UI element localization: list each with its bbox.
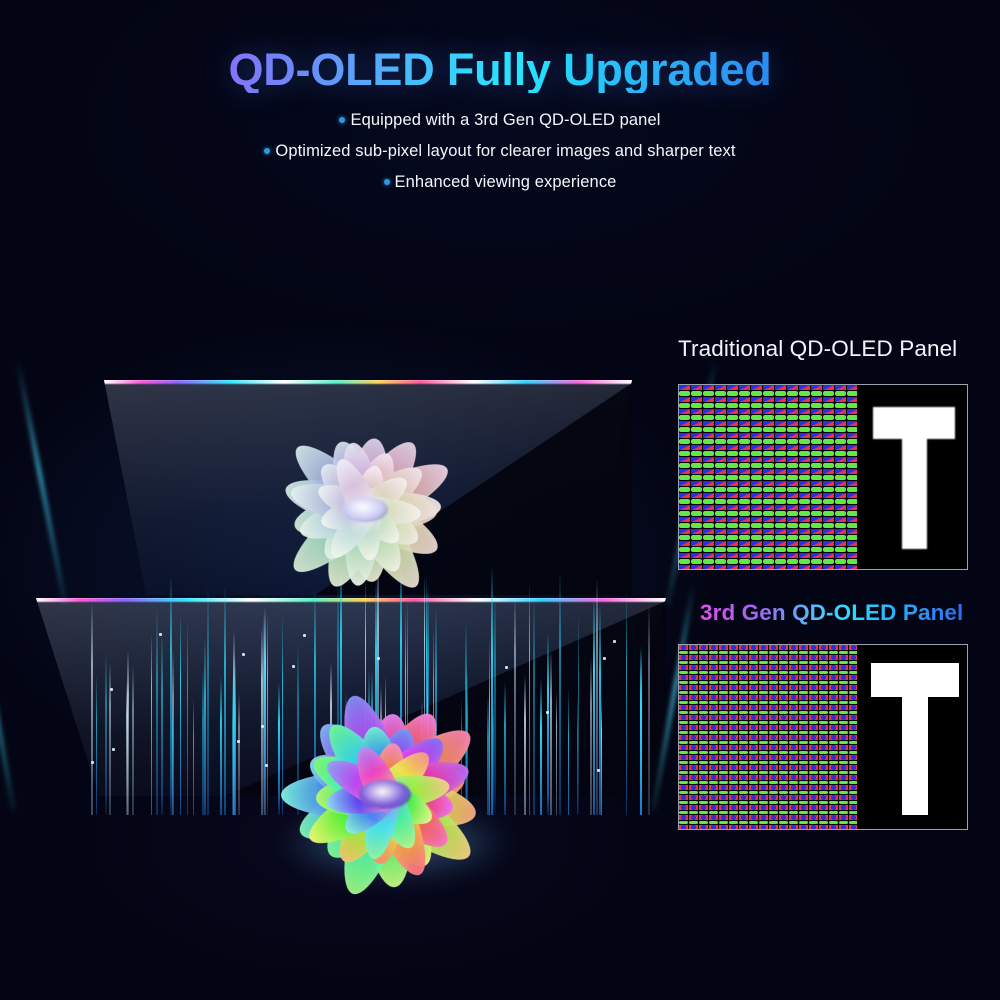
letter-t-stem [902, 696, 928, 815]
letter-t-thirdgen [871, 663, 959, 815]
header: QD-OLED Fully Upgraded Equipped with a 3… [0, 0, 1000, 198]
letter-t-bar [871, 663, 959, 697]
bullet-dot-icon [264, 148, 270, 154]
flower-top [215, 420, 515, 600]
list-item: Optimized sub-pixel layout for clearer i… [0, 136, 1000, 167]
display-illustration [0, 300, 660, 920]
letter-t-stem [902, 437, 927, 549]
bullet-text: Equipped with a 3rd Gen QD-OLED panel [350, 111, 660, 129]
letter-t-bar [873, 407, 955, 439]
comparison-traditional: Traditional QD-OLED Panel [678, 336, 957, 362]
comparison-thirdgen-label: 3rd Gen QD-OLED Panel [700, 600, 963, 626]
bullet-text: Optimized sub-pixel layout for clearer i… [275, 142, 735, 160]
feature-bullet-list: Equipped with a 3rd Gen QD-OLED panel Op… [0, 105, 1000, 198]
list-item: Enhanced viewing experience [0, 167, 1000, 198]
panel-top-iridescent-edge [104, 380, 632, 384]
list-item: Equipped with a 3rd Gen QD-OLED panel [0, 105, 1000, 136]
letter-area-thirdgen [857, 645, 967, 829]
letter-t-traditional [873, 407, 955, 549]
comparison-traditional-box [678, 384, 968, 570]
subpixel-grid-thirdgen [679, 645, 857, 829]
bullet-text: Enhanced viewing experience [395, 173, 617, 191]
comparison-traditional-label: Traditional QD-OLED Panel [678, 336, 957, 362]
page-title: QD-OLED Fully Upgraded [0, 46, 1000, 93]
letter-area-traditional [857, 385, 967, 569]
comparison-thirdgen-box [678, 644, 968, 830]
subpixel-grid-traditional [679, 385, 857, 569]
bullet-dot-icon [339, 117, 345, 123]
comparison-thirdgen: 3rd Gen QD-OLED Panel [700, 600, 963, 626]
bullet-dot-icon [384, 179, 390, 185]
